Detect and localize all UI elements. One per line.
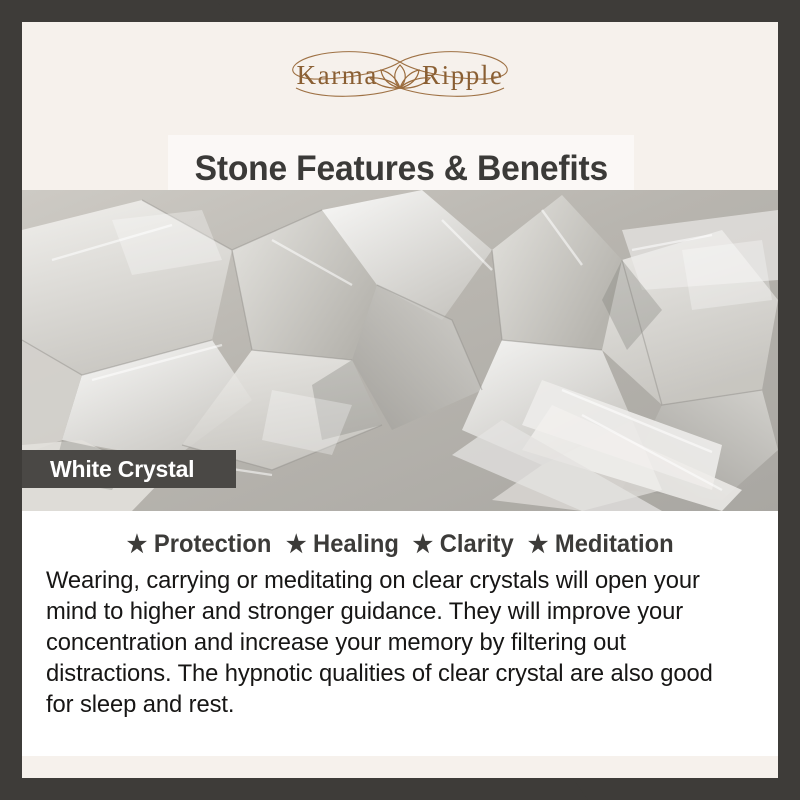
star-icon: ★ xyxy=(528,533,548,557)
feature-list: ★ Protection ★ Healing ★ Clarity ★ Medit… xyxy=(22,511,778,559)
feature-item-healing: ★ Healing xyxy=(286,530,399,559)
page-title: Stone Features & Benefits xyxy=(194,149,607,189)
feature-label: Healing xyxy=(313,530,399,559)
poster-root: Karma Ripple Stone Features & Benefits xyxy=(0,0,800,800)
star-icon: ★ xyxy=(126,533,146,557)
stone-name-label: White Crystal xyxy=(50,456,194,483)
page-surface: Karma Ripple Stone Features & Benefits xyxy=(22,22,778,778)
description-text: Wearing, carrying or meditating on clear… xyxy=(46,565,735,721)
brand-logo: Karma Ripple xyxy=(260,48,540,110)
stone-name-badge: White Crystal xyxy=(22,450,236,488)
frame-edge-left xyxy=(0,0,22,800)
star-icon: ★ xyxy=(286,533,306,557)
feature-label: Protection xyxy=(153,530,270,559)
feature-label: Meditation xyxy=(555,530,674,559)
feature-label: Clarity xyxy=(439,530,513,559)
feature-item-protection: ★ Protection xyxy=(126,530,271,559)
brand-name-right: Ripple xyxy=(422,60,504,90)
star-icon: ★ xyxy=(412,533,432,557)
content-panel: ★ Protection ★ Healing ★ Clarity ★ Medit… xyxy=(22,511,778,756)
header: Karma Ripple xyxy=(22,22,778,135)
feature-item-meditation: ★ Meditation xyxy=(528,530,674,559)
feature-item-clarity: ★ Clarity xyxy=(412,530,513,559)
bottom-cream-strip xyxy=(22,756,778,778)
brand-name-left: Karma xyxy=(297,60,378,90)
frame-edge-right xyxy=(778,0,800,800)
